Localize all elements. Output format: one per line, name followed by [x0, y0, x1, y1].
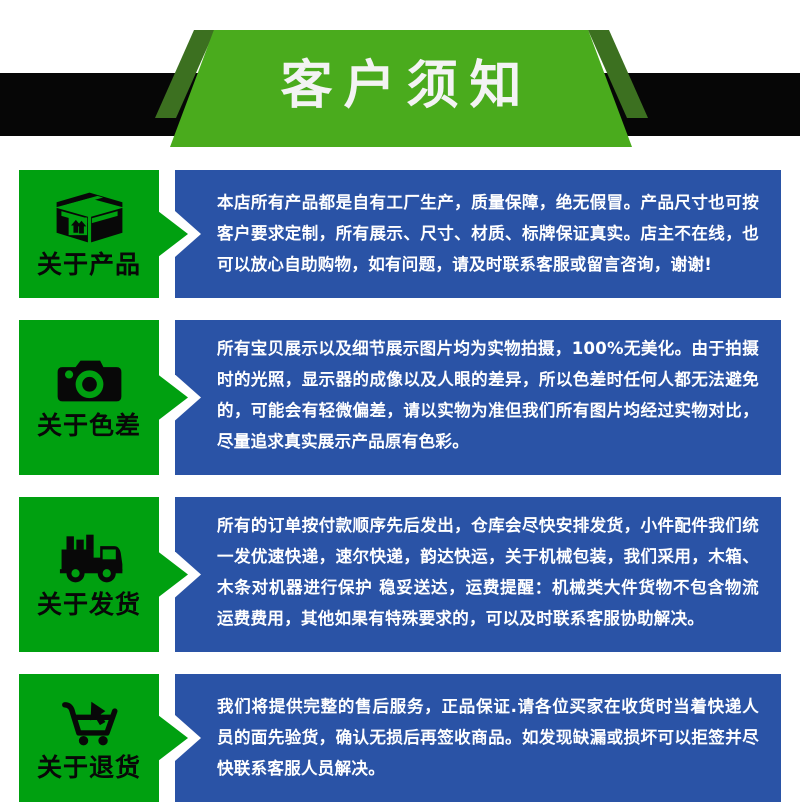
- notice-badge-label: 关于退货: [37, 755, 141, 780]
- return-cart-icon: [57, 697, 121, 751]
- notice-badge-label: 关于色差: [37, 413, 141, 438]
- page-title: 客户须知: [269, 60, 532, 118]
- notice-text-panel: 我们将提供完整的售后服务，正品保证.请各位买家在收货时当着快递人员的面先验货，确…: [175, 674, 781, 802]
- camera-icon: [56, 357, 123, 409]
- notice-badge-package-box[interactable]: 关于产品: [19, 170, 159, 298]
- header-banner: 客户须知: [0, 0, 800, 170]
- ribbon-banner: 客户须知: [170, 30, 632, 147]
- notice-body-text: 所有的订单按付款顺序先后发出，仓库会尽快安排发货，小件配件我们统一发优速快递，速…: [175, 497, 781, 634]
- notice-badge-label: 关于产品: [37, 252, 141, 277]
- notice-body-text: 我们将提供完整的售后服务，正品保证.请各位买家在收货时当着快递人员的面先验货，确…: [175, 674, 781, 784]
- notice-section: 所有的订单按付款顺序先后发出，仓库会尽快安排发货，小件配件我们统一发优速快递，速…: [0, 497, 800, 674]
- notice-badge-camera[interactable]: 关于色差: [19, 320, 159, 475]
- notice-section: 我们将提供完整的售后服务，正品保证.请各位买家在收货时当着快递人员的面先验货，确…: [0, 674, 800, 802]
- notice-text-panel: 所有宝贝展示以及细节展示图片均为实物拍摄，100%无美化。由于拍摄时的光照，显示…: [175, 320, 781, 475]
- package-box-icon: [55, 191, 124, 248]
- notice-body-text: 所有宝贝展示以及细节展示图片均为实物拍摄，100%无美化。由于拍摄时的光照，显示…: [175, 320, 781, 457]
- notice-badge-forklift-truck[interactable]: 关于发货: [19, 497, 159, 652]
- forklift-truck-icon: [55, 533, 124, 588]
- notice-badge-return-cart[interactable]: 关于退货: [19, 674, 159, 802]
- notice-section: 本店所有产品都是自有工厂生产，质量保障，绝无假冒。产品尺寸也可按客户要求定制，所…: [0, 170, 800, 320]
- notice-text-panel: 所有的订单按付款顺序先后发出，仓库会尽快安排发货，小件配件我们统一发优速快递，速…: [175, 497, 781, 652]
- notice-text-panel: 本店所有产品都是自有工厂生产，质量保障，绝无假冒。产品尺寸也可按客户要求定制，所…: [175, 170, 781, 298]
- notice-section: 所有宝贝展示以及细节展示图片均为实物拍摄，100%无美化。由于拍摄时的光照，显示…: [0, 320, 800, 497]
- notice-badge-label: 关于发货: [37, 592, 141, 617]
- notice-body-text: 本店所有产品都是自有工厂生产，质量保障，绝无假冒。产品尺寸也可按客户要求定制，所…: [175, 170, 781, 280]
- notice-section-list: 本店所有产品都是自有工厂生产，质量保障，绝无假冒。产品尺寸也可按客户要求定制，所…: [0, 170, 800, 802]
